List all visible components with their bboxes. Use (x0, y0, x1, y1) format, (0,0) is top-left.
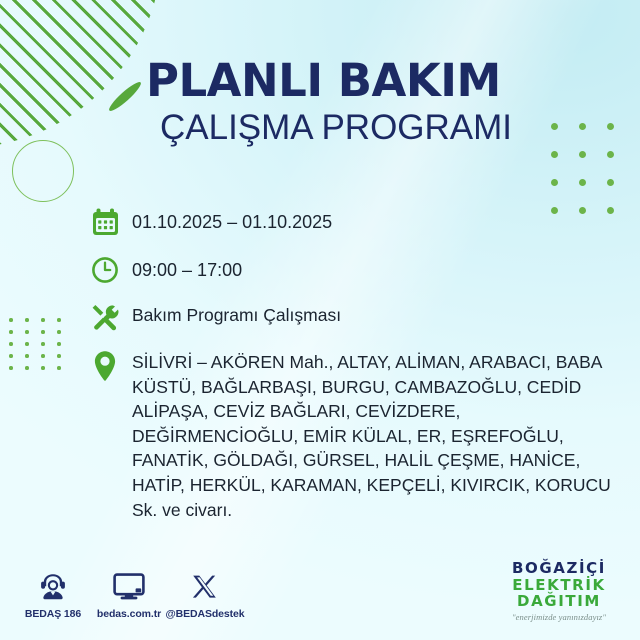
brand-tagline: "enerjimizde yanınızdayız" (494, 612, 624, 622)
diagonal-stripes-decoration (0, 0, 162, 148)
work-type-row: Bakım Programı Çalışması (88, 303, 341, 331)
brand-line-elektrik: ELEKTRİK (494, 577, 624, 594)
brand-line-bogazici: BOĞAZİÇİ (494, 560, 624, 577)
footer-item-x-handle[interactable]: @BEDASdestek (150, 570, 260, 620)
poster-canvas: PLANLI BAKIM ÇALIŞMA PROGRAMI 01.10.20 (0, 0, 640, 640)
tools-icon (88, 303, 122, 331)
footer-label-x-handle: @BEDASdestek (150, 608, 260, 620)
clock-icon (88, 256, 122, 284)
time-range-text: 09:00 – 17:00 (122, 256, 242, 279)
work-type-text: Bakım Programı Çalışması (122, 303, 341, 325)
calendar-icon (88, 208, 122, 236)
time-row: 09:00 – 17:00 (88, 256, 242, 284)
brand-line-dagitim: DAĞITIM (494, 593, 624, 610)
page-title: PLANLI BAKIM ÇALIŞMA PROGRAMI (146, 58, 566, 147)
date-range-text: 01.10.2025 – 01.10.2025 (122, 208, 332, 231)
x-twitter-icon (150, 570, 260, 604)
title-subtitle: ÇALIŞMA PROGRAMI (160, 110, 566, 147)
location-text: SİLİVRİ – AKÖREN Mah., ALTAY, ALİMAN, AR… (122, 350, 618, 522)
dot-grid-left-decoration (9, 318, 73, 378)
title-main: PLANLI BAKIM (146, 58, 566, 103)
circle-outline-decoration (12, 140, 74, 202)
location-row: SİLİVRİ – AKÖREN Mah., ALTAY, ALİMAN, AR… (88, 350, 618, 522)
date-row: 01.10.2025 – 01.10.2025 (88, 208, 332, 236)
brand-logo: BOĞAZİÇİ ELEKTRİK DAĞITIM "enerjimizde y… (494, 560, 624, 622)
location-pin-icon (88, 350, 122, 382)
stripe-pattern (0, 0, 162, 148)
